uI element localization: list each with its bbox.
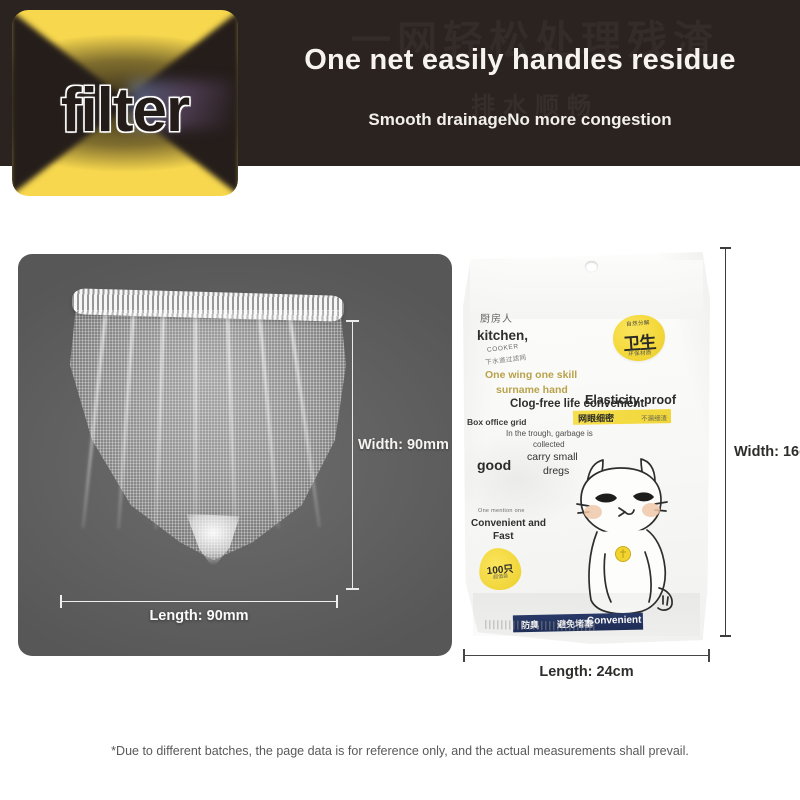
package-product-image: 厨房人 kitchen, COOKER 下水道过滤网 One wing one … xyxy=(463,252,710,644)
left-width-label: Width: 90mm xyxy=(358,437,449,453)
package-text-one-mention: One mention one xyxy=(478,508,525,514)
right-length-dimension-line xyxy=(463,655,710,656)
page-title: One net easily handles residue xyxy=(250,44,790,77)
left-width-dimension-line xyxy=(352,320,353,590)
product-infographic: 一网轻松处理残渣 排水顺畅 One net easily handles res… xyxy=(0,0,800,800)
logo-label: filter xyxy=(12,10,238,196)
right-width-label: Width: 16cm xyxy=(732,443,800,461)
package-hang-hole xyxy=(585,261,598,272)
package-text-fast: Fast xyxy=(493,531,514,542)
package-text-kitchen-cn: 厨房人 xyxy=(480,310,513,325)
package-hygiene-badge: 自然分解 卫生 环保材质 xyxy=(611,313,666,363)
brand-logo: filter xyxy=(12,10,238,196)
package-text-elasticity: Elasticity-proof xyxy=(585,393,676,407)
package-text-one-wing: One wing one skill xyxy=(485,369,577,381)
disclaimer-note: *Due to different batches, the page data… xyxy=(0,744,800,758)
strip-main-text: 网眼细密 xyxy=(578,411,614,425)
package-text-convenient: Convenient and xyxy=(471,518,546,529)
mesh-net-product-image xyxy=(70,292,346,562)
page-subtitle: Smooth drainageNo more congestion xyxy=(250,110,790,130)
package-text-kitchen: kitchen, xyxy=(477,328,528,343)
left-product-panel xyxy=(18,254,452,656)
package-text-trough: In the trough, garbage is xyxy=(506,429,593,438)
left-length-label: Length: 90mm xyxy=(60,608,338,624)
right-length-label: Length: 24cm xyxy=(463,664,710,680)
package-text-box-office: Box office grid xyxy=(467,417,527,427)
left-length-dimension-line xyxy=(60,601,338,602)
package-zip-seal xyxy=(485,620,595,631)
package-yellow-strip: 网眼细密 不漏细渣 xyxy=(573,409,671,425)
package-text-good: good xyxy=(477,457,511,473)
net-fold xyxy=(194,314,197,529)
right-width-dimension-line xyxy=(725,247,726,637)
strip-sub-text: 不漏细渣 xyxy=(641,412,667,422)
package-text-surname: surname hand xyxy=(496,384,568,396)
